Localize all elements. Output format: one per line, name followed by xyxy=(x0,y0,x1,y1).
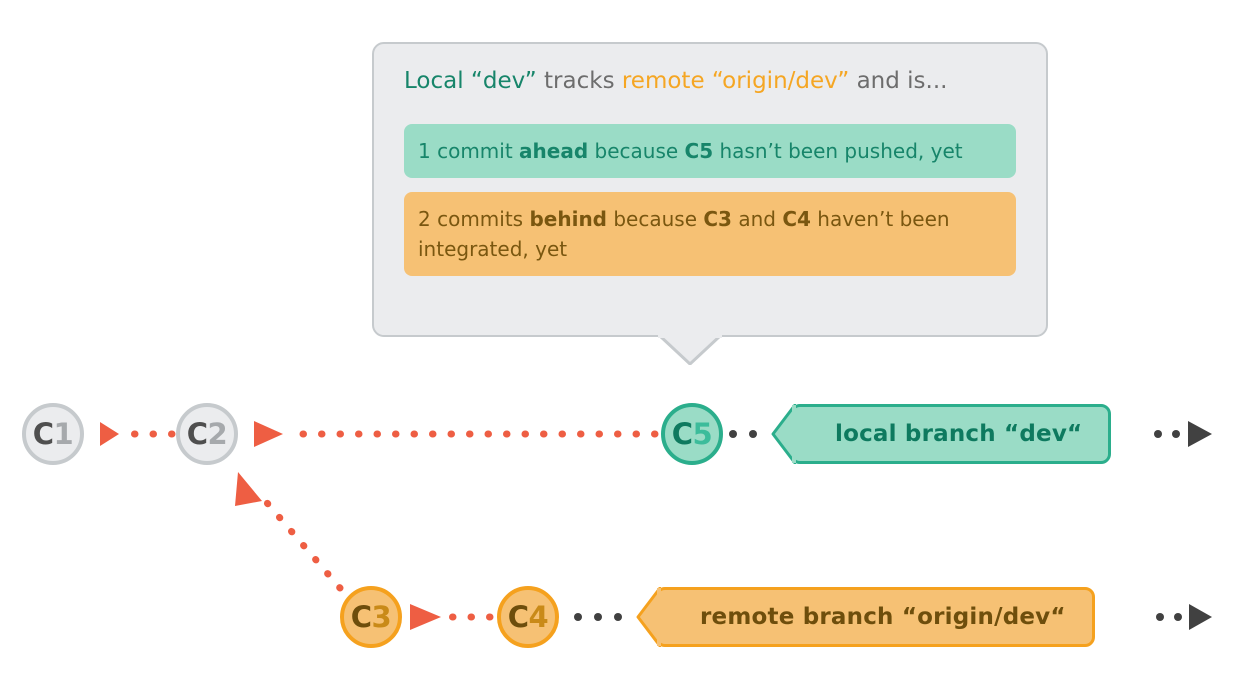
commit-c4-number: 4 xyxy=(529,600,549,634)
note-ahead-p2: because xyxy=(588,139,684,163)
note-behind-bold-behind: behind xyxy=(529,207,607,231)
note-behind-bold-c4: C4 xyxy=(782,207,811,231)
panel-title: Local “dev” tracks remote “origin/dev” a… xyxy=(404,64,1030,98)
note-behind-p3: and xyxy=(732,207,782,231)
commit-c1-prefix: C xyxy=(33,417,54,451)
note-ahead: 1 commit ahead because C5 hasn’t been pu… xyxy=(404,124,1016,178)
commit-node-c3[interactable]: C3 xyxy=(340,586,402,648)
panel-title-suffix: and is... xyxy=(849,68,947,94)
note-ahead-p1: 1 commit xyxy=(418,139,519,163)
tracking-info-panel: Local “dev” tracks remote “origin/dev” a… xyxy=(372,42,1048,337)
panel-title-local: Local “dev” xyxy=(404,68,537,94)
branch-label-remote[interactable]: remote branch “origin/dev“ xyxy=(655,587,1095,647)
branch-label-remote-text: remote branch “origin/dev“ xyxy=(700,604,1066,630)
note-behind-p2: because xyxy=(607,207,703,231)
arrow-c5-to-c2 xyxy=(254,421,655,447)
commit-c5-number: 5 xyxy=(693,417,713,451)
panel-callout-tail xyxy=(658,335,722,365)
note-behind-p1: 2 commits xyxy=(418,207,529,231)
commit-c2-prefix: C xyxy=(187,417,208,451)
commit-c3-prefix: C xyxy=(351,600,372,634)
panel-title-tracks: tracks xyxy=(537,68,622,94)
commit-c2-number: 2 xyxy=(208,417,228,451)
diagram-canvas: Local “dev” tracks remote “origin/dev” a… xyxy=(0,0,1240,694)
dots-c4-to-remote-flag xyxy=(574,613,622,621)
note-behind-bold-c3: C3 xyxy=(703,207,732,231)
commit-c3-number: 3 xyxy=(372,600,392,634)
dots-c5-to-local-flag xyxy=(729,430,757,438)
commit-c4-prefix: C xyxy=(508,600,529,634)
head-local-branch xyxy=(1154,421,1212,447)
flag-notch-remote-icon xyxy=(633,587,661,647)
note-behind: 2 commits behind because C3 and C4 haven… xyxy=(404,192,1016,276)
note-ahead-bold-c5: C5 xyxy=(685,139,714,163)
branch-label-local-text: local branch “dev“ xyxy=(835,421,1082,447)
arrow-c2-to-c1 xyxy=(100,422,172,446)
commit-node-c4[interactable]: C4 xyxy=(497,586,559,648)
commit-node-c1[interactable]: C1 xyxy=(22,403,84,465)
flag-notch-local-icon xyxy=(768,404,796,464)
commit-node-c2[interactable]: C2 xyxy=(176,403,238,465)
branch-label-local[interactable]: local branch “dev“ xyxy=(790,404,1111,464)
note-ahead-bold-ahead: ahead xyxy=(519,139,588,163)
arrow-c3-to-c2 xyxy=(235,472,340,588)
head-remote-branch xyxy=(1156,604,1212,630)
commit-c1-number: 1 xyxy=(54,417,74,451)
panel-title-remote: remote “origin/dev” xyxy=(622,68,849,94)
note-ahead-p3: hasn’t been pushed, yet xyxy=(713,139,962,163)
commit-c5-prefix: C xyxy=(672,417,693,451)
commit-node-c5[interactable]: C5 xyxy=(661,403,723,465)
arrow-c4-to-c3 xyxy=(410,604,490,630)
